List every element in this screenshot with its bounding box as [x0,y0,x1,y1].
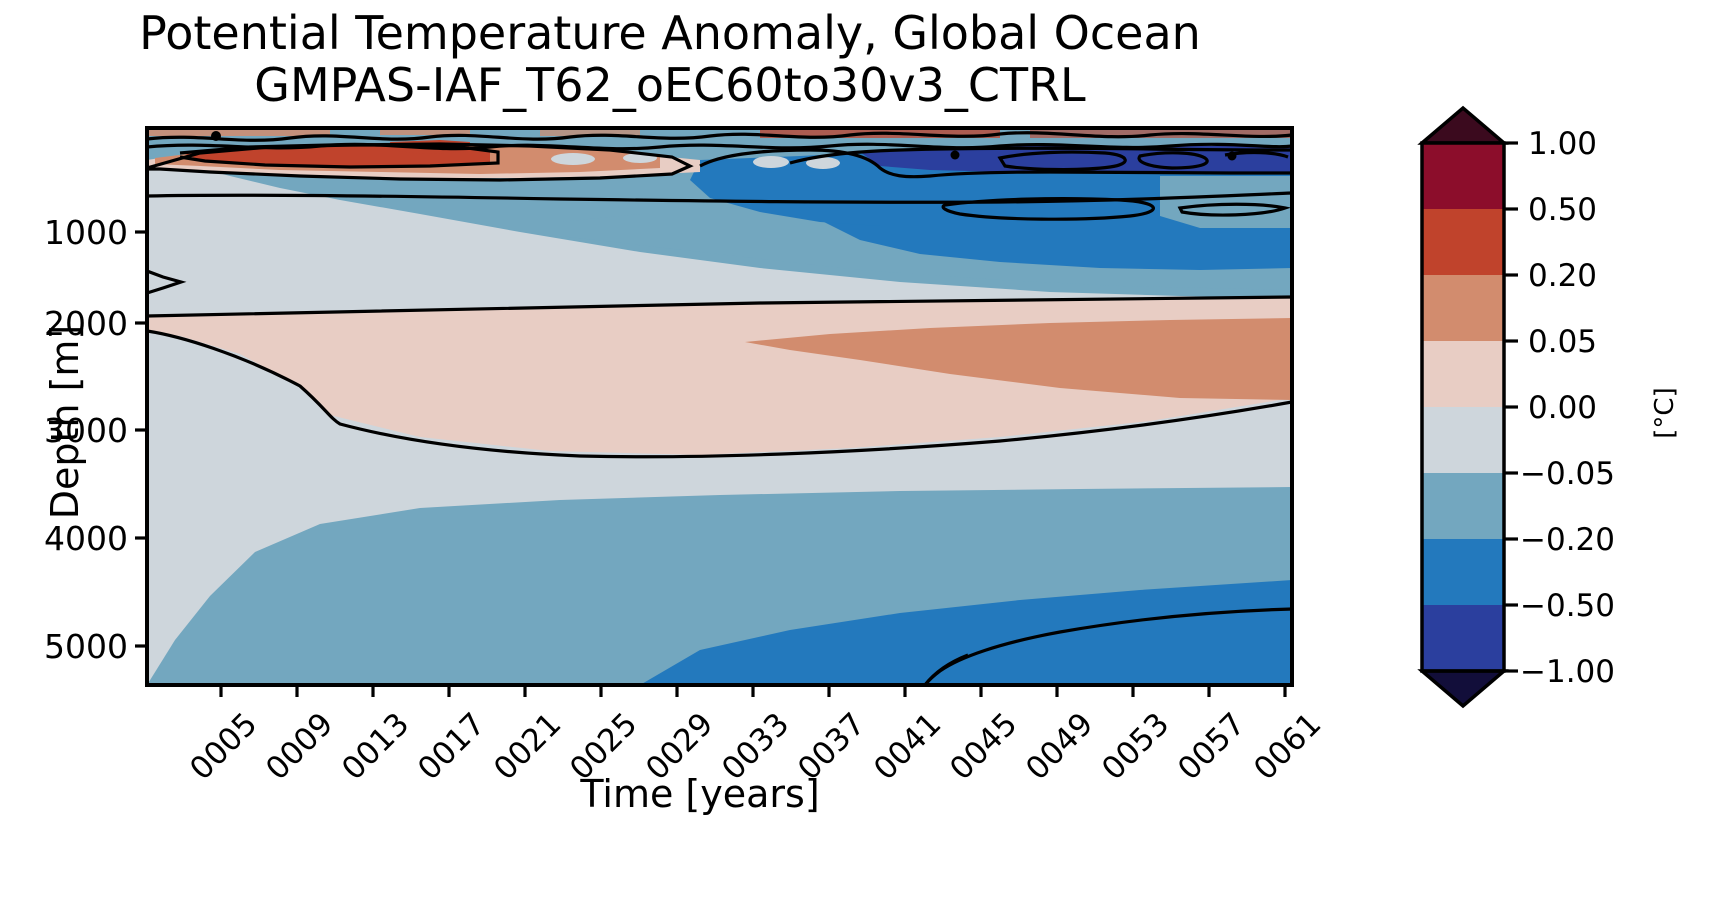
y-tick-label: 5000 [0,627,128,666]
y-tick-label: 4000 [0,519,128,558]
colorbar-tick-label: 1.00 [1528,126,1597,162]
colorbar [1422,108,1518,706]
colorbar-ticks [1504,143,1518,671]
x-tick-label: 0057 [1171,706,1252,787]
colorbar-label: [°C] [1650,323,1680,503]
colorbar-tick-label: −1.00 [1520,654,1615,690]
colorbar-tick-label: 0.50 [1528,192,1597,228]
y-tick-label: 3000 [0,411,128,450]
y-axis-ticks [135,232,147,646]
colorbar-band-m0.05-0.00 [1422,407,1504,473]
figure-title: Potential Temperature Anomaly, Global Oc… [0,8,1340,111]
colorbar-over-arrow [1422,108,1504,143]
x-tick-label: 0061 [1247,706,1328,787]
x-tick-label: 0009 [259,706,340,787]
colorbar-tick-label: 0.05 [1528,324,1597,360]
y-tick-label: 1000 [0,213,128,252]
colorbar-tick-label: 0.00 [1528,390,1597,426]
colorbar-band-m1.00-m0.50 [1422,605,1504,671]
figure-canvas: Potential Temperature Anomaly, Global Oc… [0,0,1710,909]
colorbar-tick-label: −0.05 [1520,456,1615,492]
axes-frame [147,128,1292,685]
colorbar-band-0.50-1.00 [1422,143,1504,209]
x-axis-ticks [221,685,1285,697]
colorbar-tick-label: 0.20 [1528,258,1597,294]
x-tick-label: 0005 [183,706,264,787]
y-tick-label: 2000 [0,304,128,343]
contour-fills [147,128,1292,685]
x-axis-label: Time [years] [400,772,1000,816]
colorbar-band-0.05-0.20 [1422,275,1504,341]
colorbar-band-0.00-0.05 [1422,341,1504,407]
colorbar-band-m0.20-m0.05 [1422,473,1504,539]
x-tick-label: 0053 [1095,706,1176,787]
x-tick-label: 0049 [1019,706,1100,787]
colorbar-band-0.20-0.50 [1422,209,1504,275]
colorbar-band-m0.50-m0.20 [1422,539,1504,605]
contour-lines [147,131,1292,685]
colorbar-under-arrow [1422,671,1504,706]
colorbar-tick-label: −0.50 [1520,588,1615,624]
colorbar-tick-label: −0.20 [1520,522,1615,558]
